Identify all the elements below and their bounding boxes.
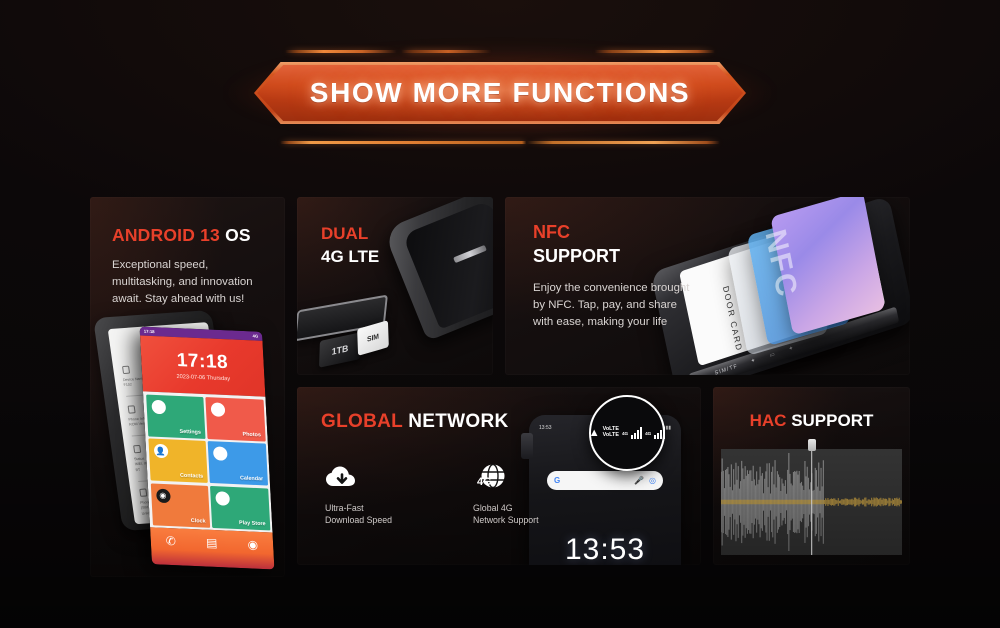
card-global-title-accent: GLOBAL xyxy=(321,411,403,432)
card-global-title: GLOBAL NETWORK xyxy=(321,411,701,433)
tile-label: Photos xyxy=(242,431,261,438)
card-android-title-white: OS xyxy=(225,225,251,245)
messages-icon[interactable]: ▤ xyxy=(206,536,218,550)
card-dual-title-white: 4G LTE xyxy=(321,246,493,269)
card-nfc-body: Enjoy the convenience brought by NFC. Ta… xyxy=(533,280,698,332)
storage-card-chip: 1TB xyxy=(319,332,361,368)
tile-label: Clock xyxy=(191,518,206,525)
card-nfc-support[interactable]: DOOR CARD SET UP SIM/TF ✦ ▭ ✦ NFC xyxy=(505,197,910,375)
feature-download-speed: Ultra-Fast Download Speed xyxy=(325,461,421,527)
settings-row-icon xyxy=(133,445,141,453)
card-android-title: ANDROID 13 OS xyxy=(112,225,285,246)
card-android-body: Exceptional speed, multitasking, and inn… xyxy=(112,257,272,309)
feature-caption: Ultra-Fast Download Speed xyxy=(325,502,421,527)
card-hac-title-white: SUPPORT xyxy=(791,411,873,430)
tile-calendar[interactable]: ▤ Calendar xyxy=(208,441,268,485)
launcher-clock-widget[interactable]: 17:18 2023-07-06 Thursday xyxy=(140,335,265,396)
launcher-tile-grid: ⚙ Settings ❀ Photos 👤 Contacts ▤ xyxy=(143,391,273,532)
settings-row-icon xyxy=(128,405,136,413)
settings-row-icon xyxy=(122,366,130,374)
tile-play-store[interactable]: ▶ Play Store xyxy=(210,486,270,530)
tile-label: Play Store xyxy=(239,520,266,527)
playhead-handle[interactable] xyxy=(808,439,816,451)
phone-front-device: 17:18 4G 17:18 2023-07-06 Thursday ⚙ Set… xyxy=(140,326,275,569)
contacts-icon: 👤 xyxy=(153,444,168,459)
launcher-clock-time: 17:18 xyxy=(176,350,228,374)
feature-global-4g: 4G Global 4G Network Support xyxy=(473,461,569,527)
lockscreen-clock: 13:53 xyxy=(529,533,681,565)
play-store-icon: ▶ xyxy=(215,491,230,506)
feature-caption-line2: Download Speed xyxy=(325,515,392,525)
feature-caption: Global 4G Network Support xyxy=(473,502,569,527)
edge-marker-icon: ✦ xyxy=(788,345,795,353)
camera-icon[interactable]: ◉ xyxy=(247,537,258,551)
tile-photos[interactable]: ❀ Photos xyxy=(206,397,266,441)
edge-marker-icon: ✦ xyxy=(750,357,757,365)
card-android-os[interactable]: ANDROID 13 OS Exceptional speed, multita… xyxy=(90,197,285,577)
global-feature-list: Ultra-Fast Download Speed 4G xyxy=(325,461,569,527)
feature-caption-line1: Ultra-Fast xyxy=(325,503,364,513)
feature-caption-line1: Global 4G xyxy=(473,503,513,513)
card-dual-title: DUAL 4G LTE xyxy=(321,223,493,268)
tile-label: Calendar xyxy=(240,475,263,482)
launcher-clock-date: 2023-07-06 Thursday xyxy=(176,374,230,382)
tile-contacts[interactable]: 👤 Contacts xyxy=(148,438,208,482)
feature-caption-line2: Network Support xyxy=(473,515,539,525)
card-dual-4g-lte[interactable]: 1TB SIM DUAL 4G LTE xyxy=(297,197,493,375)
card-nfc-title-accent: NFC xyxy=(533,221,910,245)
card-hac-support[interactable]: HAC SUPPORT xyxy=(713,387,910,565)
card-android-title-accent: ANDROID 13 xyxy=(112,225,220,245)
playhead-line[interactable] xyxy=(811,449,813,555)
card-hac-title: HAC SUPPORT xyxy=(713,411,910,431)
edge-marker-icon: ▭ xyxy=(769,351,776,359)
phone-icon[interactable]: ✆ xyxy=(165,534,176,548)
card-dual-title-accent: DUAL xyxy=(321,223,493,246)
page-root: SHOW MORE FUNCTIONS ANDROID 13 OS Except… xyxy=(0,0,1000,628)
tile-settings[interactable]: ⚙ Settings xyxy=(146,394,206,438)
phone-corner-device xyxy=(383,197,493,341)
status-bar-time: 17:18 xyxy=(144,329,155,334)
lens-icon[interactable]: ◎ xyxy=(649,476,656,485)
globe-4g-icon: 4G xyxy=(473,461,569,495)
card-global-title-white: NETWORK xyxy=(408,411,508,432)
settings-row-icon xyxy=(139,488,147,496)
cloud-download-icon xyxy=(325,461,421,495)
card-nfc-title: NFC SUPPORT xyxy=(533,221,910,269)
tile-label: Settings xyxy=(179,428,201,435)
photos-icon: ❀ xyxy=(211,402,226,417)
svg-text:4G: 4G xyxy=(477,476,492,488)
card-nfc-title-white: SUPPORT xyxy=(533,245,910,269)
calendar-icon: ▤ xyxy=(213,446,228,461)
status-bar-icons: 4G xyxy=(252,333,258,338)
tile-clock[interactable]: ◉ Clock xyxy=(150,483,210,527)
card-global-network[interactable]: GLOBAL NETWORK Ultra-Fast Download Speed xyxy=(297,387,701,565)
cards-grid: ANDROID 13 OS Exceptional speed, multita… xyxy=(0,0,1000,628)
clock-icon: ◉ xyxy=(156,488,171,503)
tile-label: Contacts xyxy=(180,473,203,480)
sim-tf-label: SIM/TF xyxy=(714,363,738,375)
microphone-icon[interactable]: 🎤 xyxy=(634,476,644,485)
gear-icon: ⚙ xyxy=(151,399,166,414)
launcher-dock: ✆ ▤ ◉ xyxy=(150,527,274,569)
card-hac-title-accent: HAC xyxy=(750,411,787,430)
android-phones-artwork: Device NameF102 Phone InfoROM Version St… xyxy=(90,305,285,577)
